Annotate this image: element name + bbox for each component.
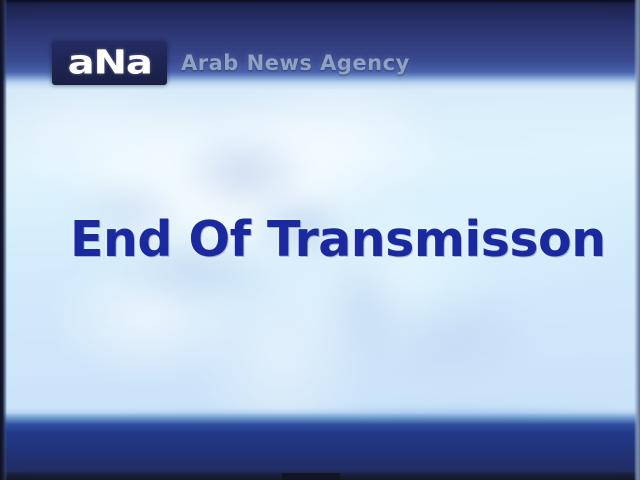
broadcast-screen: aNa Arab News Agency End Of Transmisson bbox=[0, 0, 640, 480]
screen-vignette bbox=[0, 0, 640, 480]
